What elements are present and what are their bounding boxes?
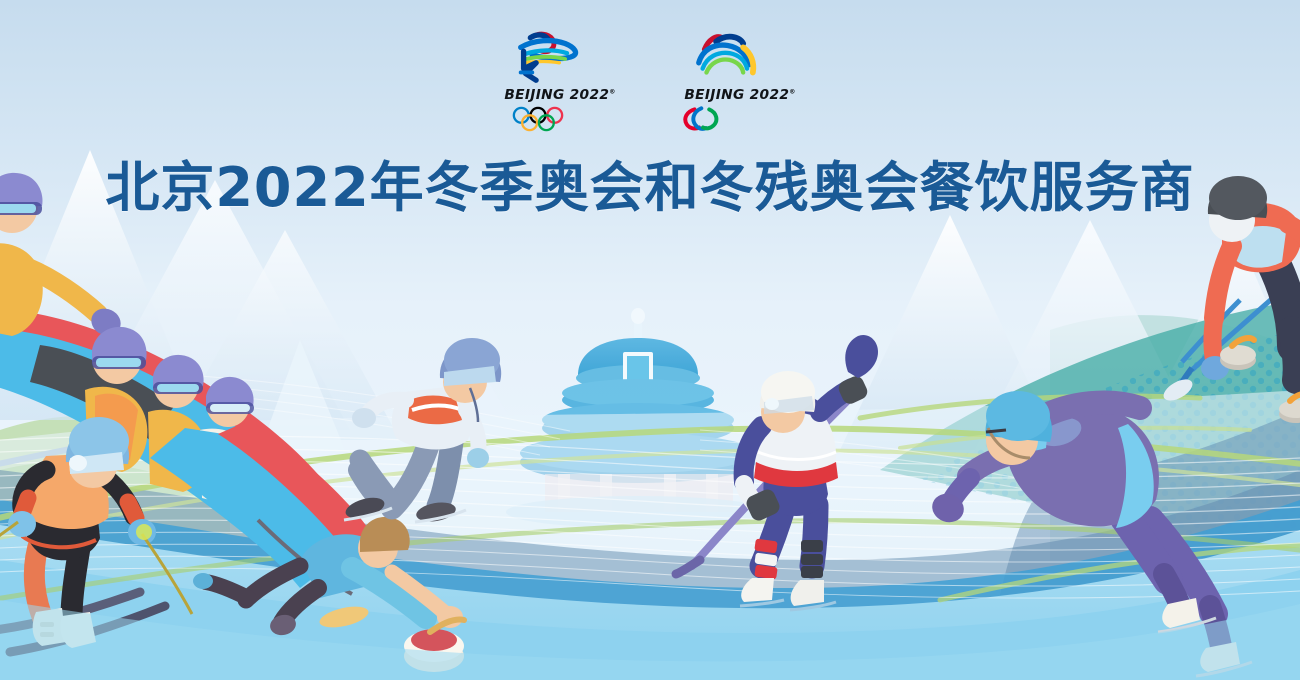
hockey-skate-left bbox=[740, 578, 784, 606]
paralympic-wordmark: BEIJING 2022® bbox=[669, 87, 812, 103]
beijing-2022-banner: BEIJING 2022® BEIJING 2 bbox=[0, 0, 1300, 680]
beijing-2022-paralympic-emblem bbox=[670, 30, 770, 86]
speed-skater bbox=[928, 391, 1252, 676]
paralympic-emblem-block: BEIJING 2022® bbox=[670, 30, 810, 132]
ice-hockey-player bbox=[676, 335, 878, 610]
bobsled-athlete-4 bbox=[200, 377, 257, 506]
short-track-skater bbox=[343, 338, 501, 524]
speed-skate-front bbox=[1158, 598, 1216, 632]
skate-blade-front bbox=[415, 500, 466, 525]
paralympic-agitos-icon bbox=[670, 106, 736, 132]
olympic-emblem-block: BEIJING 2022® bbox=[490, 30, 630, 132]
olympic-rings-icon bbox=[490, 106, 586, 132]
curling-stone-red bbox=[404, 620, 464, 673]
curler-sliding bbox=[193, 517, 464, 672]
curling-stone-gold-2 bbox=[1279, 394, 1300, 423]
speed-skate-back bbox=[1196, 642, 1252, 676]
emblem-row: BEIJING 2022® BEIJING 2 bbox=[0, 30, 1300, 140]
beijing-2022-olympic-emblem bbox=[490, 30, 590, 86]
green-ribbons bbox=[0, 396, 1300, 600]
bobsled-team bbox=[0, 173, 372, 588]
curling-stone-gold-1 bbox=[1220, 338, 1256, 370]
bobsled-athlete-3 bbox=[148, 355, 207, 492]
hockey-skate-right bbox=[790, 580, 836, 610]
alpine-skier bbox=[0, 417, 192, 652]
skate-blade-back bbox=[343, 494, 392, 522]
temple-of-heaven bbox=[506, 308, 770, 528]
bobsled-athlete-2 bbox=[85, 327, 147, 472]
olympic-wordmark: BEIJING 2022® bbox=[489, 87, 632, 103]
page-title: 北京2022年冬季奥会和冬残奥会餐饮服务商 bbox=[0, 143, 1300, 222]
